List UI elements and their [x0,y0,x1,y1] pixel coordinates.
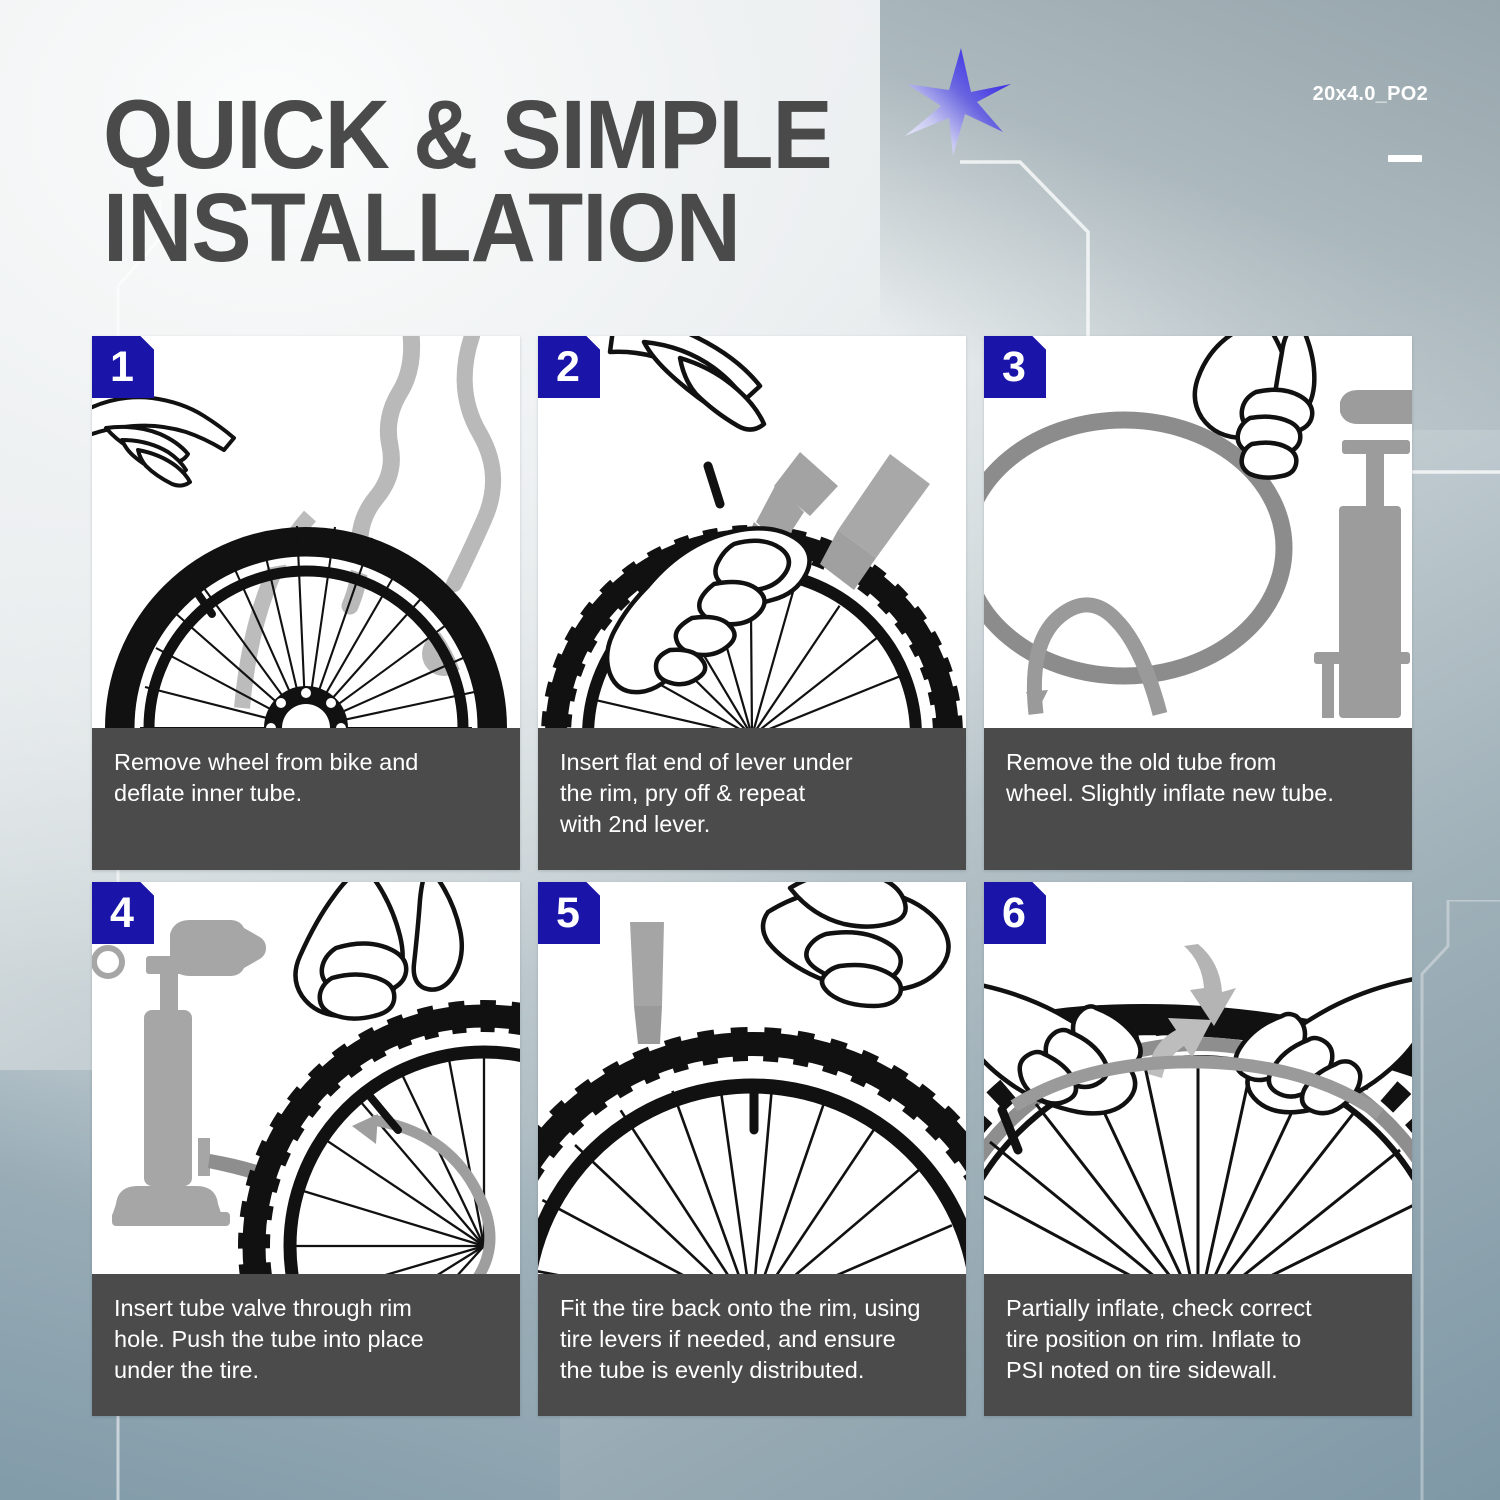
step-caption-4: Insert tube valve through rim hole. Push… [92,1274,520,1416]
step-badge-2: 2 [538,336,600,398]
sku-label: 20x4.0_PO2 [1313,83,1428,106]
page-title: QUICK & SIMPLE INSTALLATION [103,88,832,274]
step-card-5: 5 Fit the tire back onto the rim, using … [538,882,966,1416]
step-illustration-2: 2 [538,336,966,728]
step-illustration-4: 4 [92,882,520,1274]
step-caption-6: Partially inflate, check correct tire po… [984,1274,1412,1416]
step-illustration-6: 6 [984,882,1412,1274]
step-caption-1: Remove wheel from bike and deflate inner… [92,728,520,870]
step-badge-6: 6 [984,882,1046,944]
step-caption-3: Remove the old tube from wheel. Slightly… [984,728,1412,870]
header: QUICK & SIMPLE INSTALLATION 20x4.0_PO2 [0,0,1500,330]
sku-dash-marker [1388,155,1422,162]
step-card-1: 1 Remove wheel from bike and deflate inn… [92,336,520,870]
step-card-2: 2 Insert flat end of lever under the rim… [538,336,966,870]
step-caption-5: Fit the tire back onto the rim, using ti… [538,1274,966,1416]
step-card-4: 4 Insert tube valve through rim hole. Pu… [92,882,520,1416]
step-badge-1: 1 [92,336,154,398]
step-illustration-3: 3 [984,336,1412,728]
step-caption-2: Insert flat end of lever under the rim, … [538,728,966,870]
step-illustration-5: 5 [538,882,966,1274]
step-illustration-1: 1 [92,336,520,728]
step-badge-3: 3 [984,336,1046,398]
step-badge-5: 5 [538,882,600,944]
step-card-3: 3 Remove the old tube from wheel. Slight… [984,336,1412,870]
step-card-6: 6 Partially inflate, check correct tire … [984,882,1412,1416]
steps-grid: 1 Remove wheel from bike and deflate inn… [92,336,1425,1416]
step-badge-4: 4 [92,882,154,944]
star-sparkle-icon [893,40,1033,190]
